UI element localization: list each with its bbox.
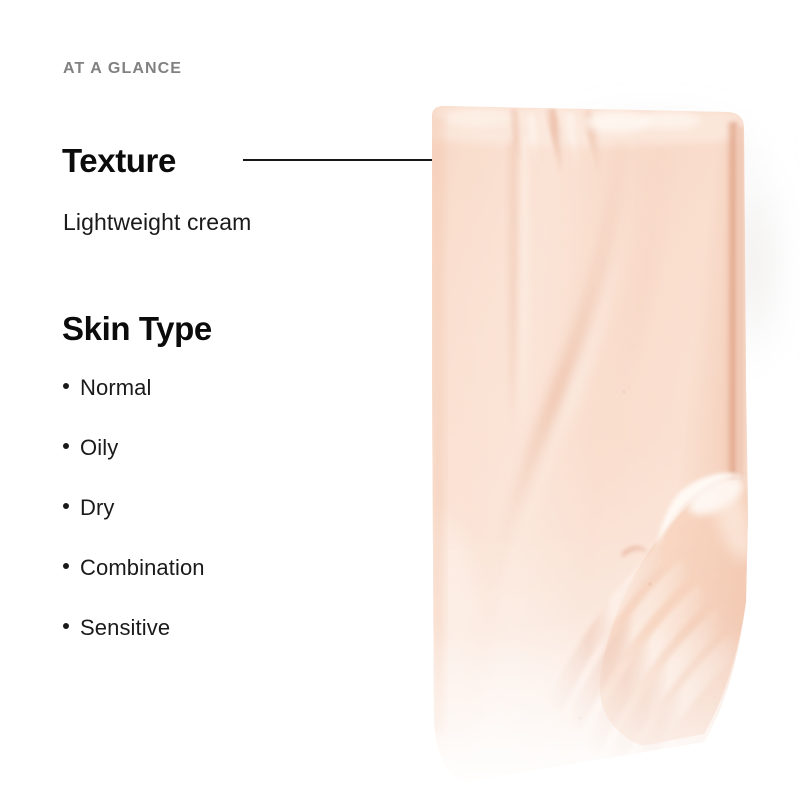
- list-item-label: Oily: [80, 437, 118, 459]
- list-item-label: Combination: [80, 557, 205, 579]
- texture-value: Lightweight cream: [63, 209, 251, 236]
- list-item: Combination: [62, 555, 392, 615]
- list-item-label: Dry: [80, 497, 115, 519]
- list-item-label: Sensitive: [80, 617, 170, 639]
- swatch-body-group: [404, 82, 800, 800]
- bullet-icon: [63, 383, 69, 389]
- section-eyebrow-label: AT A GLANCE: [63, 60, 182, 78]
- texture-heading: Texture: [62, 142, 176, 180]
- list-item-label: Normal: [80, 377, 152, 399]
- product-at-a-glance-panel: AT A GLANCE Texture Lightweight cream Sk…: [0, 0, 800, 800]
- list-item: Normal: [62, 375, 392, 435]
- bullet-icon: [63, 623, 69, 629]
- list-item: Oily: [62, 435, 392, 495]
- bullet-icon: [63, 443, 69, 449]
- bullet-icon: [63, 503, 69, 509]
- cream-swatch-illustration: [404, 82, 800, 800]
- list-item: Dry: [62, 495, 392, 555]
- cream-texture-swatch-image: [404, 82, 800, 800]
- list-item: Sensitive: [62, 615, 392, 675]
- skin-type-heading: Skin Type: [62, 310, 212, 348]
- skin-type-list: Normal Oily Dry Combination Sensitive: [62, 375, 392, 675]
- bullet-icon: [63, 563, 69, 569]
